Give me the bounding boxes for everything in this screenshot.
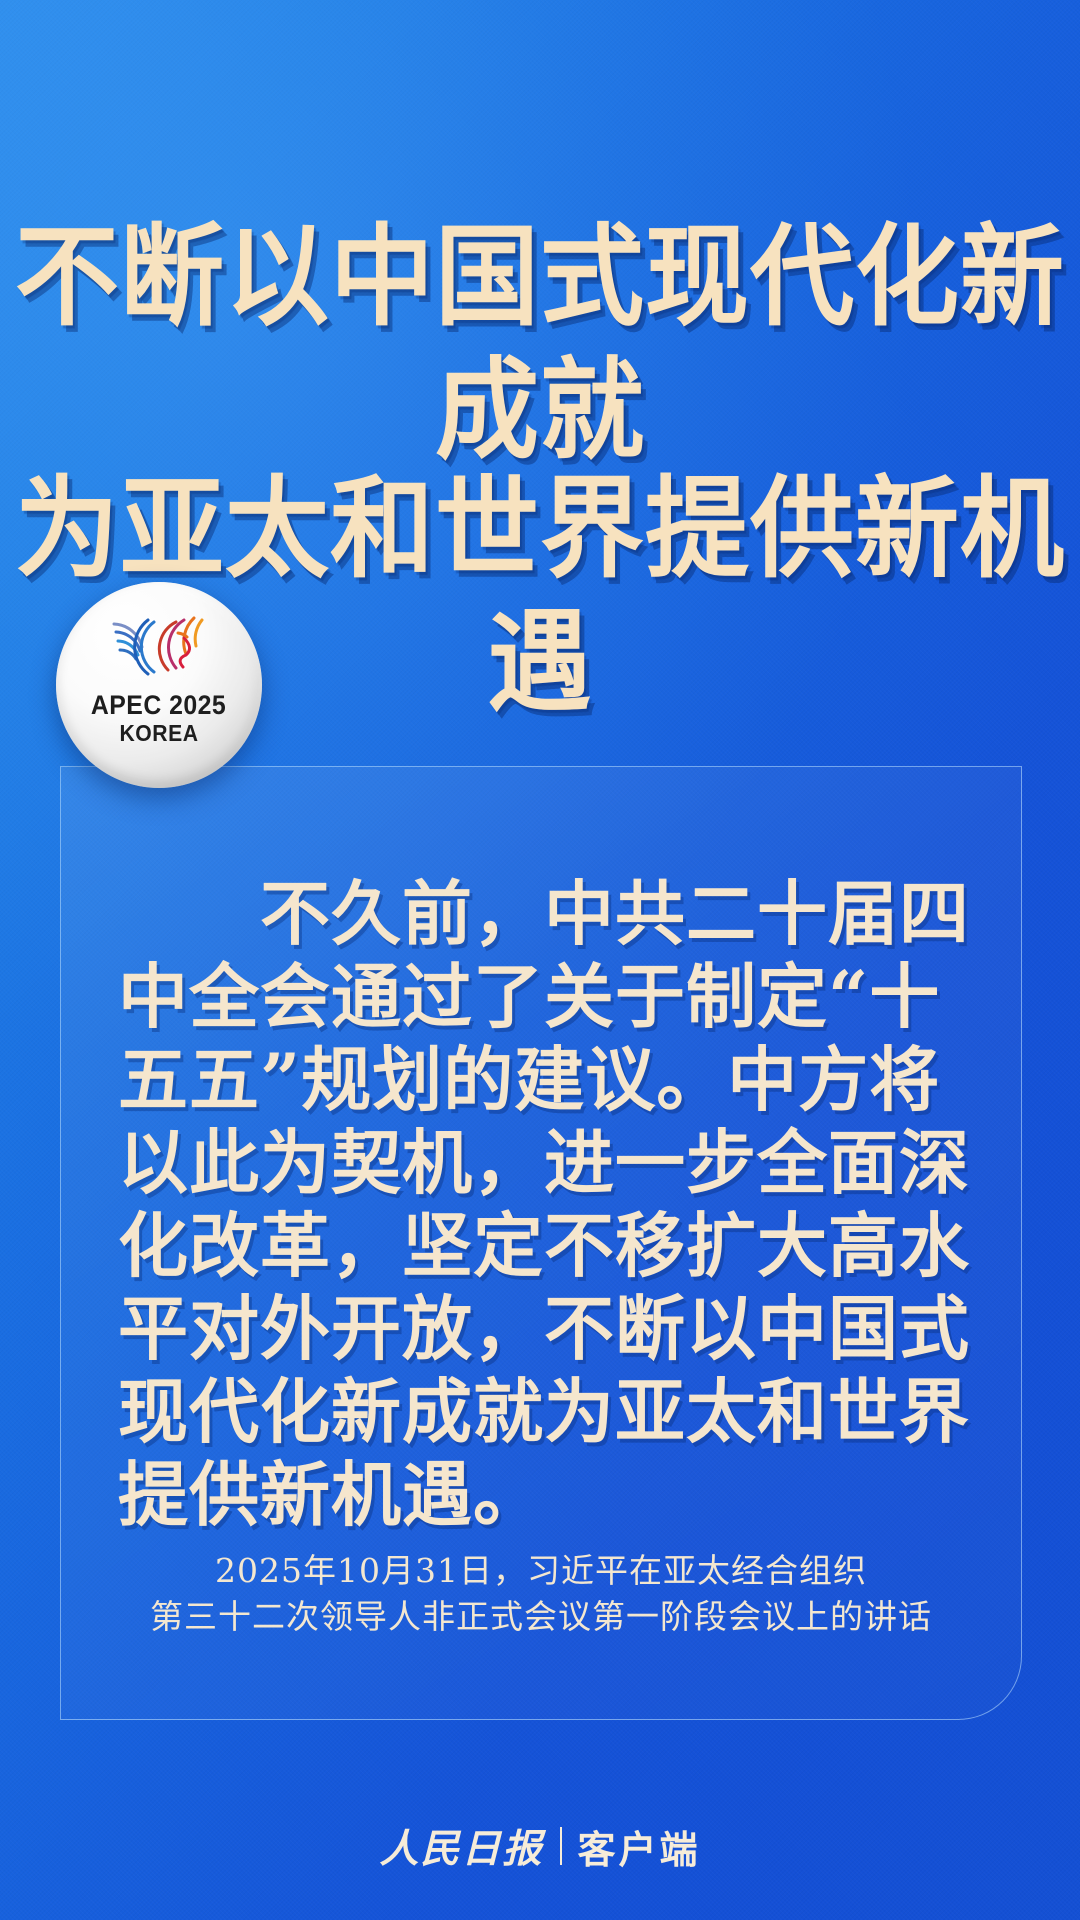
poster-root: 不断以中国式现代化新成就 为亚太和世界提供新机遇 APEC 2025 KORE: [0, 0, 1080, 1920]
quote-line: 中全会通过了关于制定“十: [118, 955, 960, 1038]
product-name: 客户端: [562, 1819, 701, 1874]
apec-badge: APEC 2025 KOREA: [56, 582, 262, 788]
attribution-line-2: 第三十二次领导人非正式会议第一阶段会议上的讲话: [60, 1594, 1022, 1640]
apec-face-arcs-logo-icon: [98, 608, 220, 686]
quote-line: 不久前，中共二十届四: [118, 872, 960, 955]
badge-title: APEC 2025: [91, 690, 226, 720]
publisher-name: 人民日报: [379, 1818, 559, 1874]
quote-line: 化改革，坚定不移扩大高水: [118, 1204, 960, 1287]
quote-line: 提供新机遇。: [118, 1453, 960, 1536]
quote-line: 平对外开放，不断以中国式: [118, 1287, 960, 1370]
quote-line: 以此为契机，进一步全面深: [118, 1121, 960, 1204]
quote-line: 五五”规划的建议。中方将: [118, 1038, 960, 1121]
quote-line: 现代化新成就为亚太和世界: [118, 1370, 960, 1453]
title-line-1: 不断以中国式现代化新成就: [0, 210, 1080, 477]
badge-subtitle: KOREA: [119, 720, 198, 746]
attribution-line-1: 2025年10月31日，习近平在亚太经合组织: [60, 1548, 1022, 1594]
footer-logo: 人民日报 客户端: [0, 1818, 1080, 1874]
attribution: 2025年10月31日，习近平在亚太经合组织 第三十二次领导人非正式会议第一阶段…: [60, 1548, 1022, 1640]
quote-text: 不久前，中共二十届四 中全会通过了关于制定“十 五五”规划的建议。中方将 以此为…: [118, 872, 960, 1536]
